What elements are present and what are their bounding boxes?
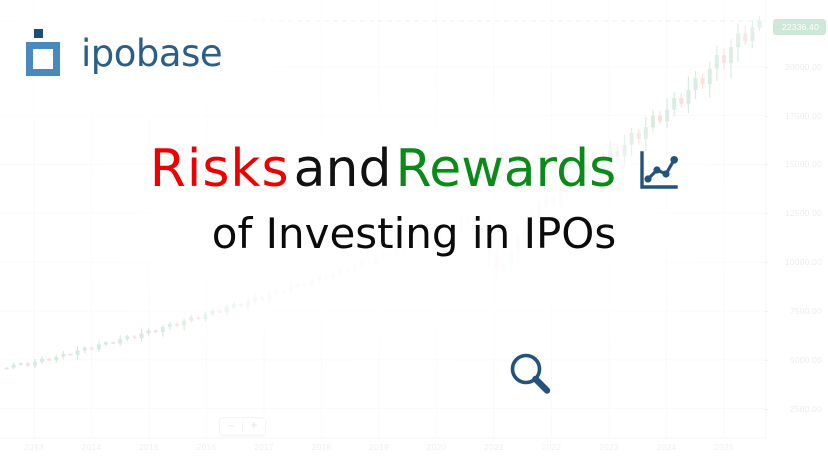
time-axis-label: 2020: [427, 442, 447, 452]
time-axis-label: 2024: [657, 442, 677, 452]
price-axis-label: 7500.00: [790, 306, 822, 316]
zoom-in-button[interactable]: +: [243, 419, 265, 434]
price-axis-label: 5000.00: [790, 355, 822, 365]
chart-zoom-control[interactable]: – +: [219, 417, 266, 436]
line-chart-icon: [636, 149, 680, 193]
logo-dot: [34, 29, 43, 38]
price-axis-tick: [764, 409, 768, 410]
time-axis-label: 2016: [197, 442, 217, 452]
headline-line-2: of Investing in IPOs: [0, 213, 828, 255]
square-outline-logo-icon: [26, 28, 66, 76]
time-axis-label: 2013: [24, 442, 44, 452]
price-axis-tick: [764, 360, 768, 361]
headline-word-and: and: [292, 143, 394, 195]
price-axis-label: 2500.00: [790, 404, 822, 414]
logo-square: [26, 42, 60, 76]
time-axis-label: 2019: [369, 442, 389, 452]
magnifier-icon[interactable]: [505, 349, 557, 401]
brand-logo[interactable]: ipobase: [26, 28, 222, 76]
headline-word-rewards: Rewards: [393, 143, 618, 195]
price-axis-tick: [764, 116, 768, 117]
time-axis-label: 2015: [139, 442, 159, 452]
price-axis-label: 17500.00: [785, 111, 822, 121]
price-axis-label: 10000.00: [785, 257, 822, 267]
time-axis-label: 2023: [599, 442, 619, 452]
zoom-out-button[interactable]: –: [220, 419, 242, 434]
time-axis-label: 2022: [542, 442, 562, 452]
current-price-badge: 22336.40: [773, 19, 826, 35]
time-axis-label: 2025: [714, 442, 734, 452]
price-axis-label: 20000.00: [785, 62, 822, 72]
headline-block: Risks and Rewards of Investing in IPOs: [0, 143, 828, 255]
headline-word-risks: Risks: [148, 143, 292, 195]
time-axis-label: 2014: [82, 442, 102, 452]
price-axis-tick: [764, 311, 768, 312]
time-axis-label: 2021: [484, 442, 504, 452]
time-axis-label: 2018: [312, 442, 332, 452]
headline-line-1: Risks and Rewards: [0, 143, 828, 195]
price-axis-tick: [764, 262, 768, 263]
price-axis-tick: [764, 67, 768, 68]
brand-name: ipobase: [81, 35, 222, 72]
time-axis-label: 2017: [254, 442, 274, 452]
chart-hero-banner: 20000.0017500.0015000.0012500.0010000.00…: [0, 0, 828, 473]
